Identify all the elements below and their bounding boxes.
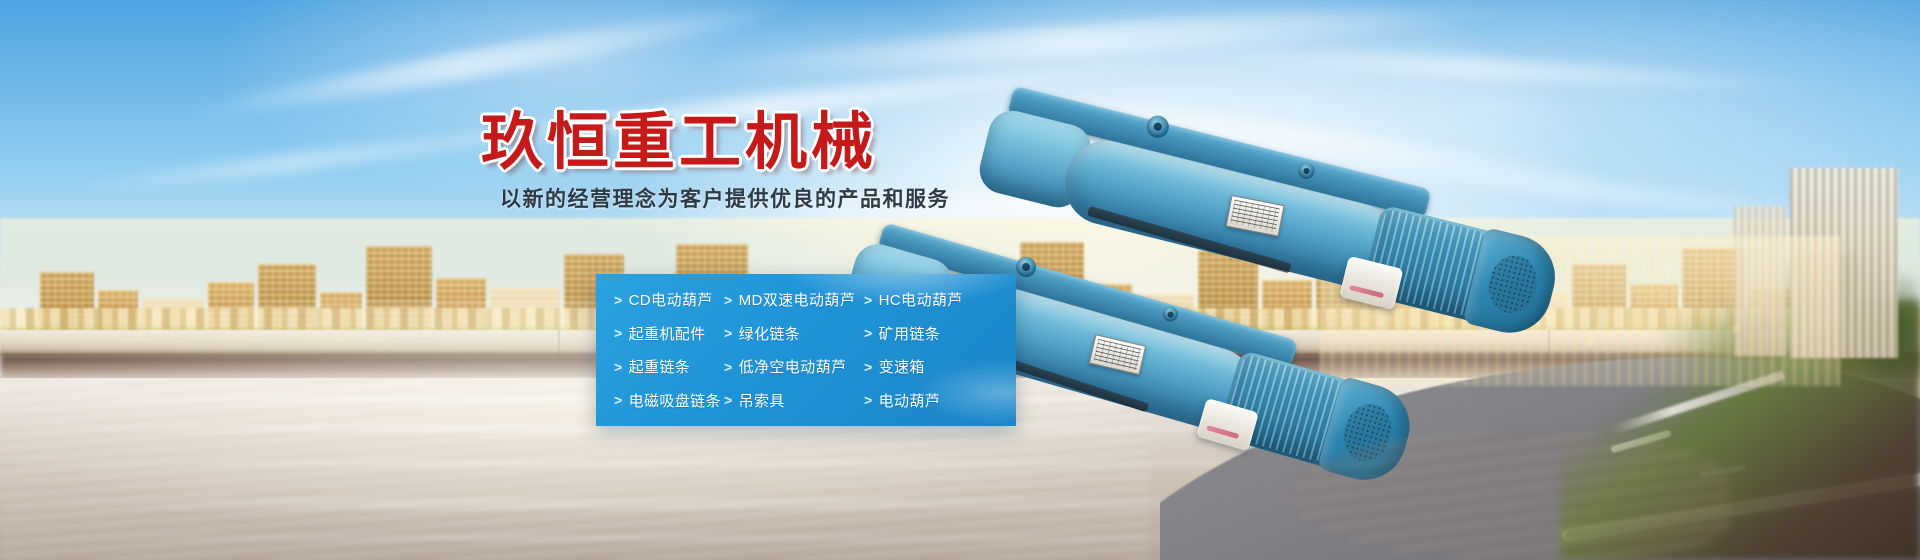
chevron-right-icon: >	[724, 359, 733, 375]
background-tower	[1790, 168, 1898, 358]
chevron-right-icon: >	[724, 392, 733, 408]
product-link-diancixipan[interactable]: > 电磁吸盘链条	[614, 390, 724, 411]
product-link-label: 低净空电动葫芦	[739, 356, 847, 377]
chevron-right-icon: >	[864, 325, 873, 341]
chevron-right-icon: >	[724, 325, 733, 341]
chevron-right-icon: >	[614, 392, 623, 408]
product-link-lvhua-liantiao[interactable]: > 绿化链条	[724, 323, 864, 344]
product-link-qizhongji-peijian[interactable]: > 起重机配件	[614, 323, 724, 344]
product-link-label: 起重链条	[629, 356, 691, 377]
product-link-label: 电动葫芦	[879, 390, 941, 411]
product-link-dianbdonghulu[interactable]: > 电动葫芦	[864, 390, 1016, 411]
product-link-label: 变速箱	[879, 356, 925, 377]
product-link-biansuxiang[interactable]: > 变速箱	[864, 356, 1016, 377]
product-link-label: 绿化链条	[739, 323, 801, 344]
chevron-right-icon: >	[614, 325, 623, 341]
product-category-grid: > CD电动葫芦 > MD双速电动葫芦 > HC电动葫芦 > 起重机配件 > 绿…	[596, 274, 1016, 426]
product-link-label: 起重机配件	[629, 323, 706, 344]
product-link-hc-dianbdonghulu[interactable]: > HC电动葫芦	[864, 289, 1016, 310]
chevron-right-icon: >	[864, 392, 873, 408]
page-title: 玖恒重工机械	[481, 112, 877, 174]
chevron-right-icon: >	[864, 359, 873, 375]
product-link-kuangyong-liantiao[interactable]: > 矿用链条	[864, 323, 1016, 344]
hero-banner: 玖恒重工机械 以新的经营理念为客户提供优良的产品和服务 > CD电动葫芦 > M…	[0, 0, 1920, 560]
product-link-label: HC电动葫芦	[879, 289, 963, 310]
product-link-diaosuoju[interactable]: > 吊索具	[724, 390, 864, 411]
product-link-label: 吊索具	[739, 390, 785, 411]
cloud-wisp	[1180, 43, 1820, 96]
chevron-right-icon: >	[864, 292, 873, 308]
chevron-right-icon: >	[614, 292, 623, 308]
product-link-label: 矿用链条	[879, 323, 941, 344]
chevron-right-icon: >	[724, 292, 733, 308]
cloud-wisp	[700, 0, 1520, 83]
chevron-right-icon: >	[614, 359, 623, 375]
product-category-panel: > CD电动葫芦 > MD双速电动葫芦 > HC电动葫芦 > 起重机配件 > 绿…	[596, 274, 1016, 426]
product-link-label: 电磁吸盘链条	[629, 390, 721, 411]
background-tower	[1734, 206, 1786, 356]
product-link-dijingkong[interactable]: > 低净空电动葫芦	[724, 356, 864, 377]
product-link-label: MD双速电动葫芦	[739, 289, 856, 310]
page-subtitle: 以新的经营理念为客户提供优良的产品和服务	[500, 183, 950, 213]
product-link-qizhong-liantiao[interactable]: > 起重链条	[614, 356, 724, 377]
product-link-md-shuangsu[interactable]: > MD双速电动葫芦	[724, 289, 864, 310]
product-link-cd-dianbdonghulu[interactable]: > CD电动葫芦	[614, 289, 724, 310]
product-link-label: CD电动葫芦	[629, 289, 713, 310]
